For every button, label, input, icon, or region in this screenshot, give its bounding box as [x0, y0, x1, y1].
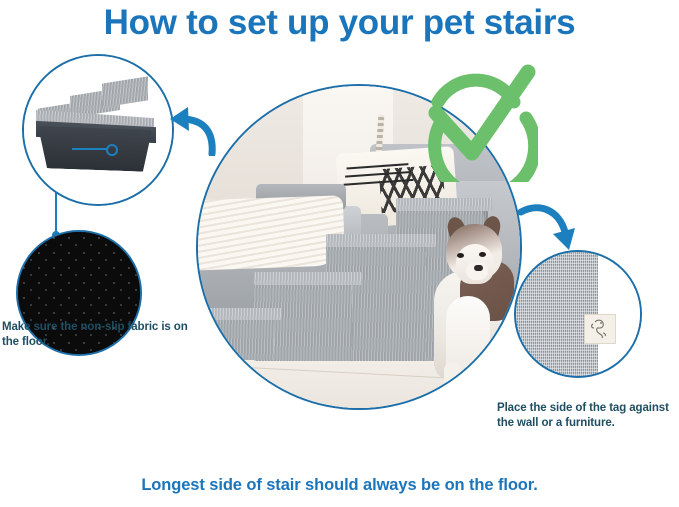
stairs-underside-step-3 [102, 76, 148, 107]
dog-eye-left [457, 253, 464, 258]
upside-down-stairs-illustration [24, 56, 172, 204]
inset-connector-line [55, 193, 57, 235]
caption-non-slip-fabric: Make sure the non-slip fabric is on the … [2, 320, 202, 350]
dog-front-leg-left [444, 362, 461, 388]
stair-step-1 [198, 316, 274, 360]
caption-tag-placement: Place the side of the tag against the wa… [497, 401, 679, 431]
callout-dot [106, 144, 118, 156]
throw-blanket [198, 195, 345, 271]
page-title: How to set up your pet stairs [0, 2, 679, 44]
curved-arrow-right-icon [517, 198, 581, 258]
pet-logo-icon [586, 316, 612, 340]
bottom-caption: Longest side of stair should always be o… [0, 476, 679, 495]
stair-step-1-tread [198, 308, 282, 320]
dog-front-leg-right [466, 366, 483, 390]
inset-stair-tag [516, 252, 640, 376]
inset-upside-down-stairs [24, 56, 172, 204]
green-check-icon [414, 58, 538, 182]
callout-line [72, 148, 108, 150]
stair-step-2-tread [254, 272, 362, 285]
dog-eye-right [479, 252, 486, 257]
stair-step-3-tread [326, 234, 436, 247]
curved-arrow-left-icon [162, 104, 218, 156]
dog-nose [474, 265, 483, 271]
stair-step-4-tread [396, 198, 492, 211]
infographic-canvas: How to set up your pet stairs [0, 0, 679, 507]
